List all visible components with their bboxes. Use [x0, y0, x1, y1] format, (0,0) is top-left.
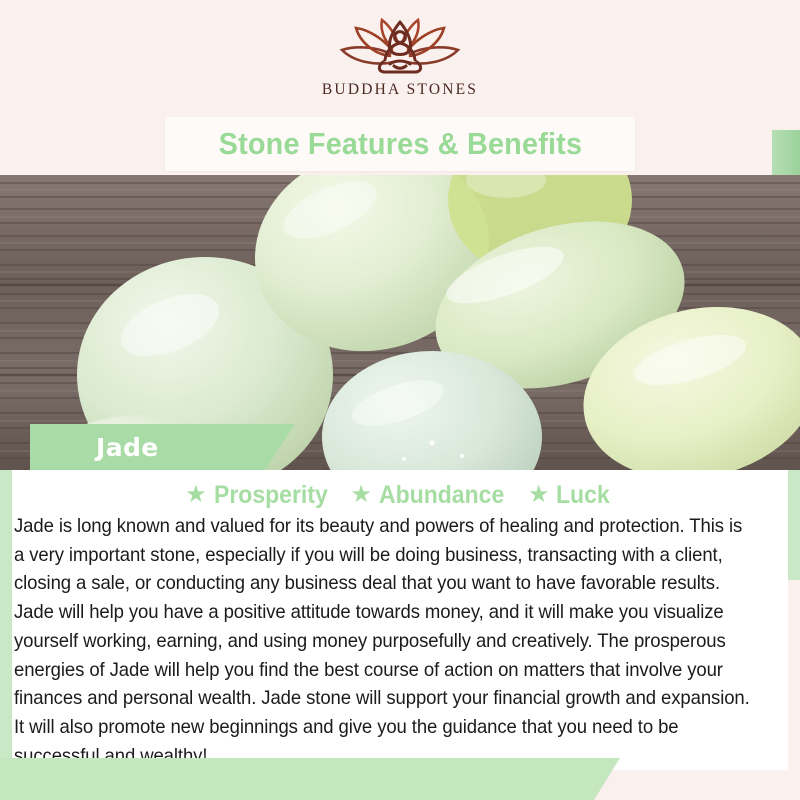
benefit-item: ★ Luck	[528, 481, 615, 510]
stone-description: Jade is long known and valued for its be…	[14, 512, 751, 770]
lotus-meditation-icon	[320, 16, 480, 78]
page-title: Stone Features & Benefits	[218, 126, 582, 162]
brand-header: BUDDHA STONES	[0, 0, 800, 120]
stone-info-card: BUDDHA STONES	[0, 0, 800, 800]
stone-name-text: Jade	[96, 433, 159, 462]
decor-green-bottom	[0, 758, 620, 800]
benefit-label: Luck	[556, 481, 610, 510]
stone-name-label: Jade	[30, 424, 295, 470]
benefit-label: Prosperity	[214, 481, 328, 510]
benefits-row: ★ Prosperity ★ Abundance ★ Luck	[12, 478, 788, 512]
benefit-label: Abundance	[379, 481, 504, 510]
star-icon: ★	[528, 483, 550, 507]
star-icon: ★	[185, 483, 207, 507]
star-icon: ★	[350, 483, 372, 507]
brand-name: BUDDHA STONES	[322, 81, 478, 99]
benefit-item: ★ Abundance	[350, 481, 515, 510]
benefit-item: ★ Prosperity	[185, 481, 337, 510]
section-title-bar: Stone Features & Benefits	[165, 117, 635, 171]
